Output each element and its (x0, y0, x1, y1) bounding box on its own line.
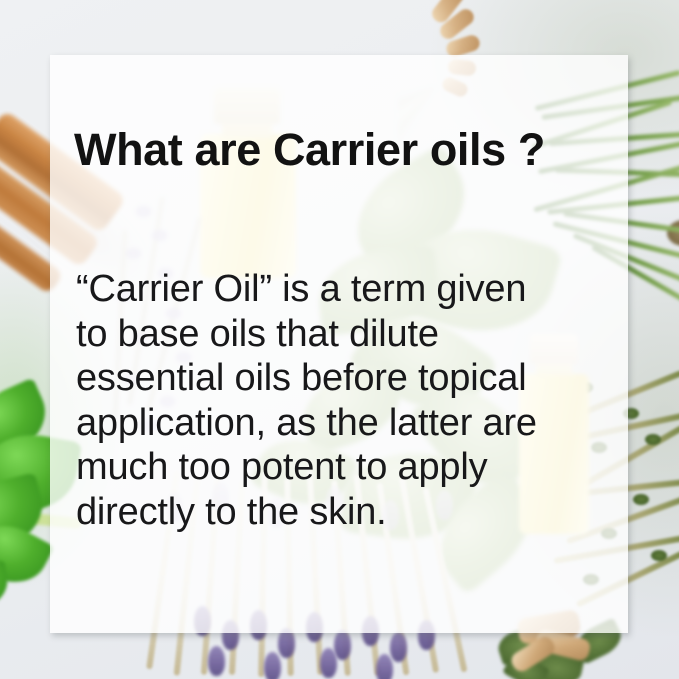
page-title: What are Carrier oils ? (74, 124, 545, 176)
infographic-canvas: What are Carrier oils ? “Carrier Oil” is… (0, 0, 679, 679)
text-layer: What are Carrier oils ? “Carrier Oil” is… (0, 0, 679, 679)
body-paragraph: “Carrier Oil” is a term given to base oi… (76, 267, 616, 534)
